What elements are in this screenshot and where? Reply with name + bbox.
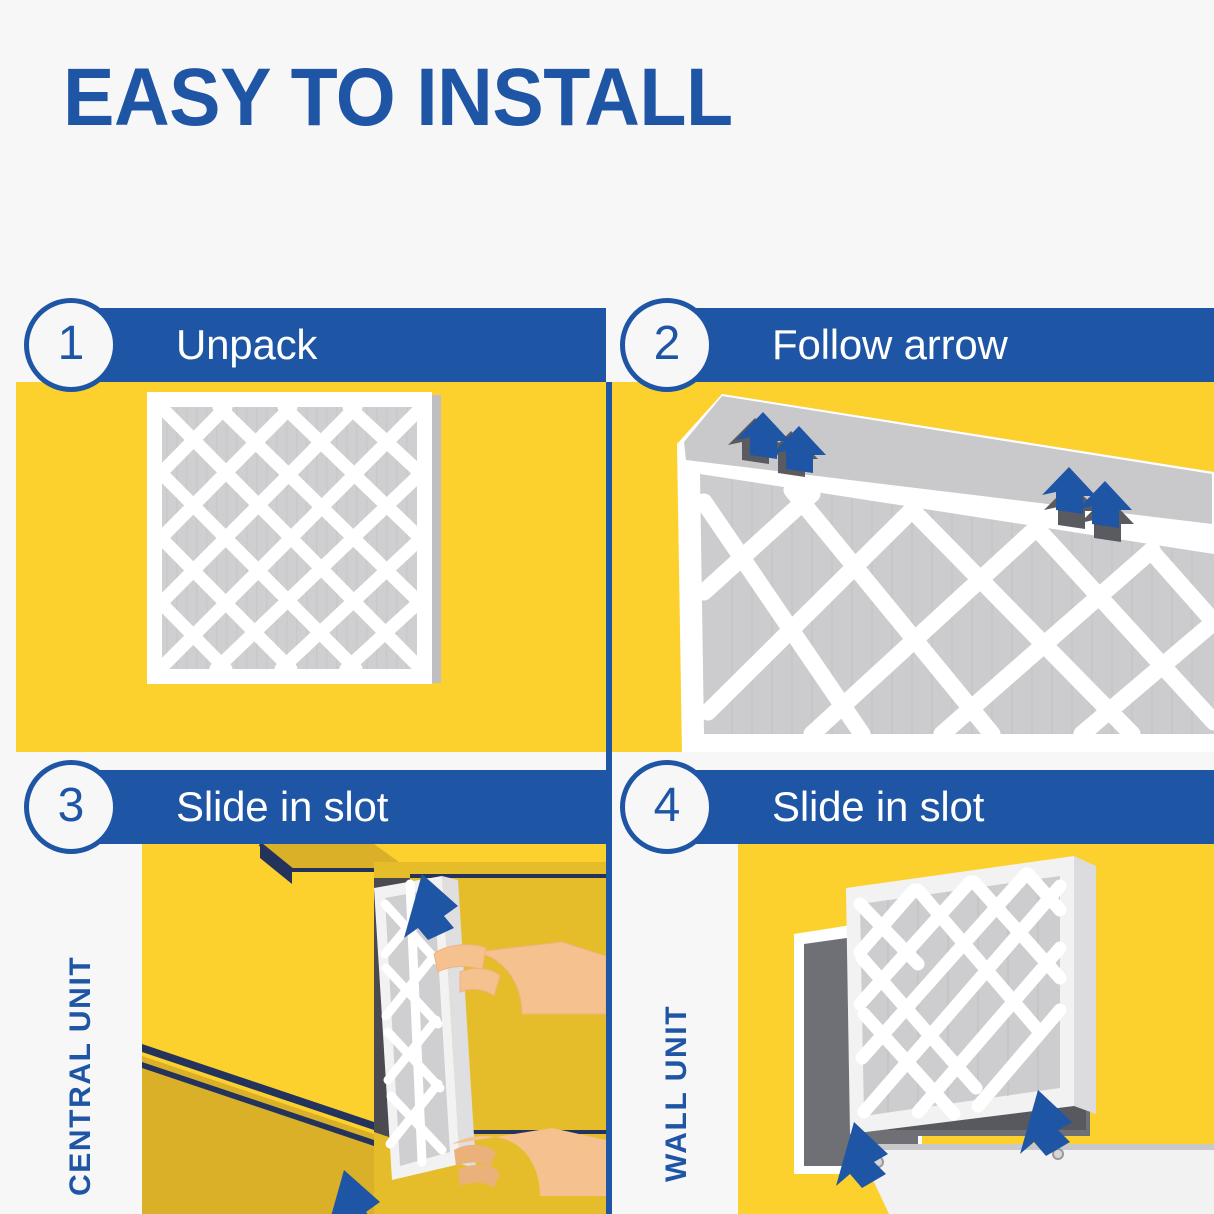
step-2-label: Follow arrow bbox=[772, 321, 1008, 369]
step-panel-1: Unpack 1 bbox=[16, 290, 606, 752]
step-1-illustration bbox=[16, 382, 606, 752]
step-3-number-badge: 3 bbox=[24, 760, 118, 854]
flat-air-filter-icon bbox=[16, 382, 606, 752]
infographic-canvas: EASY TO INSTALL bbox=[0, 0, 1214, 1214]
step-panel-3: CENTRAL UNIT Slide in slot 3 bbox=[16, 752, 606, 1214]
step-panel-4: WALL UNIT Slide in slot 4 bbox=[612, 752, 1214, 1214]
filter-in-wall-vent bbox=[846, 856, 1096, 1134]
step-1-label: Unpack bbox=[176, 321, 317, 369]
step-1-header-bar: Unpack bbox=[62, 308, 606, 382]
step-4-illustration bbox=[738, 844, 1214, 1214]
steps-grid: Unpack 1 bbox=[0, 290, 1214, 1214]
step-1-number: 1 bbox=[58, 320, 85, 368]
step-4-unit-caption: WALL UNIT bbox=[660, 1005, 694, 1182]
step-3-unit-caption: CENTRAL UNIT bbox=[64, 956, 98, 1196]
page-title: EASY TO INSTALL bbox=[63, 50, 733, 146]
step-1-number-badge: 1 bbox=[24, 298, 118, 392]
blue-airflow-arrow-left bbox=[736, 412, 826, 473]
step-3-label: Slide in slot bbox=[176, 783, 388, 831]
step-panel-2: Follow arrow 2 bbox=[612, 290, 1214, 752]
step-3-number: 3 bbox=[58, 782, 85, 830]
step-3-header-bar: Slide in slot bbox=[62, 770, 606, 844]
step-4-label: Slide in slot bbox=[772, 783, 984, 831]
step-4-number-badge: 4 bbox=[620, 760, 714, 854]
step-2-number: 2 bbox=[654, 320, 681, 368]
step-4-number: 4 bbox=[654, 782, 681, 830]
step-4-header-bar: Slide in slot bbox=[658, 770, 1214, 844]
step-2-header-bar: Follow arrow bbox=[658, 308, 1214, 382]
wall-unit-scene-icon bbox=[738, 844, 1214, 1214]
step-2-number-badge: 2 bbox=[620, 298, 714, 392]
central-unit-scene-icon bbox=[142, 844, 606, 1214]
step-3-illustration bbox=[142, 844, 606, 1214]
